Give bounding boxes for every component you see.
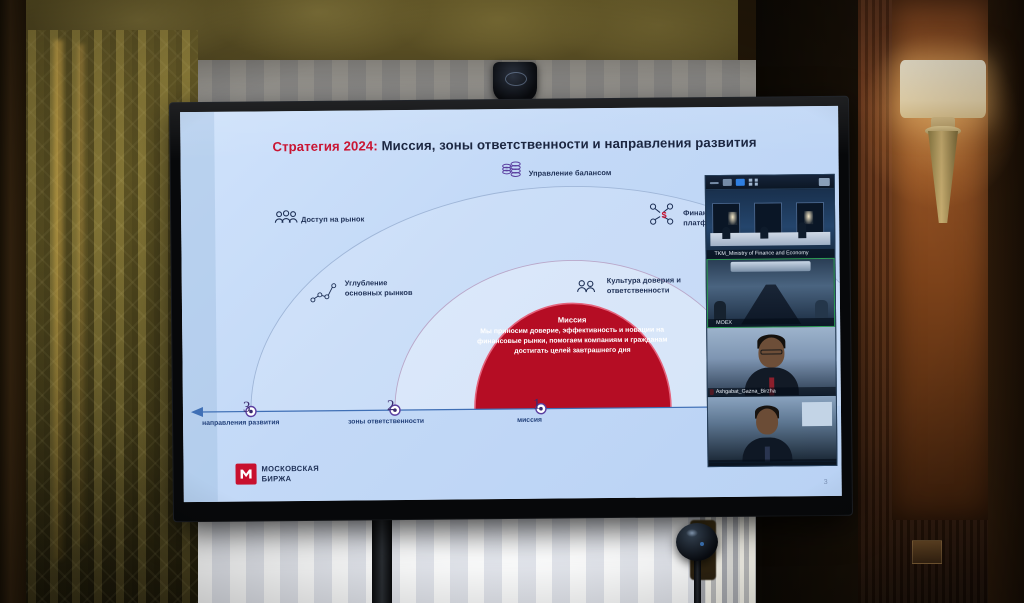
moex-mark-glyph	[240, 468, 253, 479]
video-tile-name-1: TKM_Ministry of Finance and Economy	[706, 248, 834, 258]
label-balance-management: Управление балансом	[529, 168, 612, 179]
video-tile-ministry[interactable]: TKM_Ministry of Finance and Economy	[706, 189, 835, 259]
network-dollar-icon: $	[649, 202, 677, 226]
label-trust-culture: Культура доверия и ответственности	[607, 275, 699, 295]
node-graph-icon	[310, 282, 340, 304]
lamp-shade	[900, 60, 986, 118]
television-display: Стратегия 2024: Миссия, зоны ответственн…	[170, 97, 852, 521]
tile1-person-a	[722, 227, 730, 239]
axis-caption-2: зоны ответственности	[348, 418, 424, 426]
axis-arrowhead	[191, 407, 203, 417]
grid-view-icon[interactable]	[749, 178, 758, 186]
video-tile-moex[interactable]: MOEX	[707, 258, 836, 328]
ceiling-camera-lens-ring	[505, 72, 527, 86]
moex-logo-mark	[235, 463, 256, 484]
curtain-light-streak-2	[78, 44, 84, 544]
floor-camera-highlight	[686, 529, 698, 537]
minimize-icon[interactable]	[710, 181, 719, 183]
people-group-icon	[274, 210, 298, 224]
single-view-icon[interactable]	[723, 179, 732, 186]
left-wood-trim	[0, 0, 26, 603]
slide-page-number: 3	[824, 479, 828, 486]
floor-camera-led-icon	[700, 542, 704, 546]
tile3-glasses	[760, 349, 782, 354]
video-panel-toolbar[interactable]	[706, 175, 834, 190]
axis-number-1: 1	[533, 397, 541, 414]
tv-stand-pole	[372, 518, 392, 603]
wall-outlet-plate	[912, 540, 942, 564]
tile1-lamp-left	[728, 212, 737, 225]
axis-number-2: 2	[387, 398, 395, 415]
video-tile-ashgabat[interactable]: Ashgabat_Gazna_Birzha	[707, 327, 836, 397]
mission-body: Мы приносим доверие, эффективность и нов…	[474, 325, 670, 357]
far-right-wood-trim	[988, 0, 1024, 603]
curtain-light-streak	[54, 40, 63, 560]
screen-share-icon[interactable]	[819, 177, 830, 185]
floor-dome-camera-icon	[676, 523, 718, 561]
tile4-background-screen	[802, 402, 832, 426]
tile4-head	[756, 408, 778, 434]
tv-screen: Стратегия 2024: Миссия, зоны ответственн…	[180, 106, 842, 502]
conference-room-photo: Стратегия 2024: Миссия, зоны ответственн…	[0, 0, 1024, 603]
mission-title: Миссия	[474, 314, 670, 325]
video-tile-unnamed[interactable]	[708, 396, 837, 463]
toolbar-spacer	[762, 182, 815, 183]
two-people-icon	[576, 279, 598, 293]
moex-logo-text: МОСКОВСКАЯ БИРЖА	[261, 464, 319, 483]
tile1-lamp-right	[804, 211, 813, 224]
mission-statement: Миссия Мы приносим доверие, эффективност…	[474, 314, 670, 356]
video-tile-name-4	[708, 458, 836, 462]
tile1-person-b	[760, 227, 768, 239]
label-market-access: Доступ на рынок	[301, 214, 364, 224]
tile2-ceiling-light	[730, 261, 811, 272]
svg-text:$: $	[662, 210, 667, 220]
axis-caption-3: направления развития	[202, 419, 279, 427]
coins-stack-icon	[501, 161, 523, 181]
split-view-icon[interactable]	[736, 179, 745, 186]
moex-logo-line-2: БИРЖА	[262, 473, 320, 483]
moex-logo: МОСКОВСКАЯ БИРЖА	[235, 463, 319, 485]
tile1-person-c	[798, 222, 806, 238]
video-tile-name-3: Ashgabat_Gazna_Birzha	[708, 386, 836, 396]
axis-number-3: 3	[243, 400, 251, 417]
label-core-markets: Углубление основных рынков	[345, 278, 423, 298]
moex-logo-line-1: МОСКОВСКАЯ	[261, 464, 319, 474]
video-conference-panel[interactable]: TKM_Ministry of Finance and Economy MOEX	[705, 174, 838, 467]
axis-caption-1: миссия	[517, 417, 542, 424]
video-tile-name-2: MOEX	[708, 317, 834, 327]
